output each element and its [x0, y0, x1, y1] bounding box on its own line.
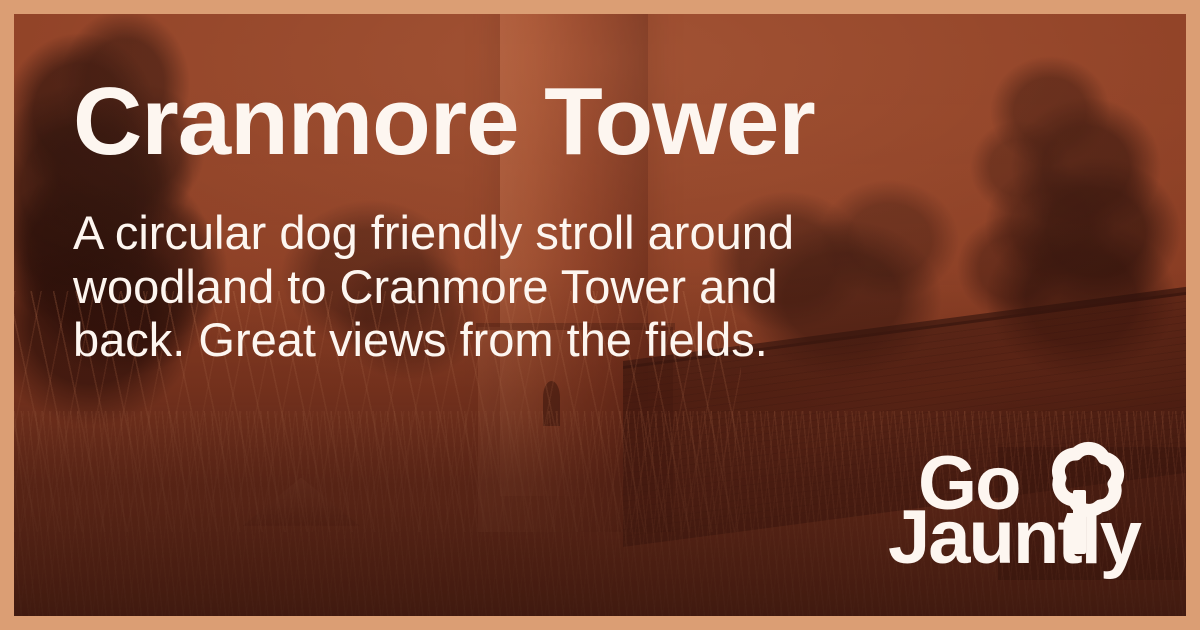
page-title: Cranmore Tower: [73, 74, 903, 170]
walk-description: A circular dog friendly stroll around wo…: [73, 206, 873, 367]
tree-icon: [1032, 438, 1130, 554]
go-jauntly-logo[interactable]: Go Jauntly: [888, 440, 1126, 570]
background-photo: Cranmore Tower A circular dog friendly s…: [14, 14, 1186, 616]
text-block: Cranmore Tower A circular dog friendly s…: [73, 74, 903, 367]
share-card: Cranmore Tower A circular dog friendly s…: [0, 0, 1200, 630]
